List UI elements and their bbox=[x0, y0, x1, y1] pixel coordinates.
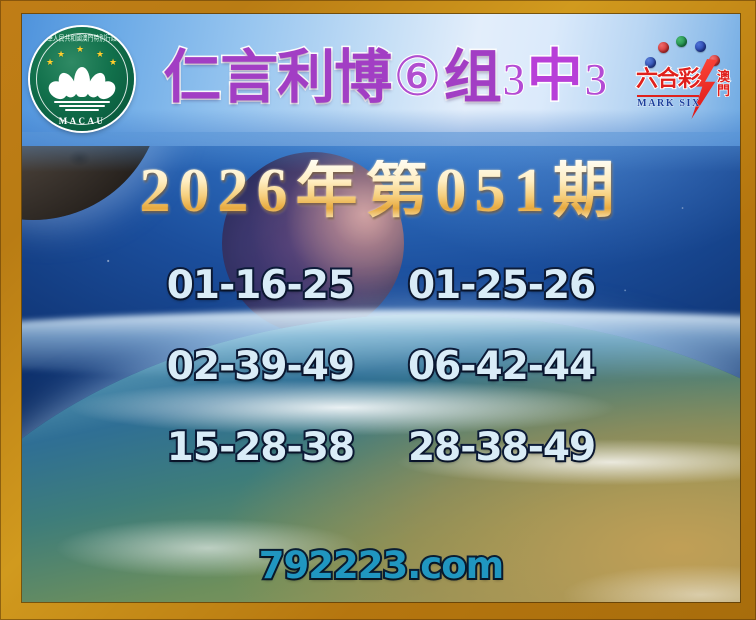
site-url[interactable]: 792223.com bbox=[22, 547, 740, 584]
headline-pick-count: 3 bbox=[503, 58, 525, 102]
lotus-icon bbox=[51, 67, 113, 101]
headline-circled-six: ⑥ bbox=[393, 50, 441, 104]
mark-six-underline bbox=[637, 95, 699, 97]
bridge-waves-icon bbox=[54, 101, 110, 114]
headline-group-label: 组 bbox=[444, 48, 501, 106]
mark-six-region: 澳門 bbox=[717, 71, 732, 98]
number-row: 01-16-25 01-25-26 bbox=[46, 266, 716, 305]
number-row: 15-28-38 28-38-49 bbox=[46, 428, 716, 467]
number-combo: 06-42-44 bbox=[408, 347, 595, 386]
emblem-stars: ★★★ ★★ bbox=[30, 47, 134, 63]
number-combo: 28-38-49 bbox=[408, 428, 595, 467]
headline-hit-count: 3 bbox=[585, 58, 607, 102]
headline-brand: 仁言利博 bbox=[163, 48, 391, 106]
header: 中華人民共和國澳門特別行政區 ★★★ ★★ MACAU 仁言利博 ⑥ bbox=[22, 14, 740, 144]
number-combo: 01-25-26 bbox=[408, 266, 595, 305]
number-combo: 15-28-38 bbox=[167, 428, 354, 467]
headline: 仁言利博 ⑥ 组 3 中 3 bbox=[138, 48, 634, 106]
number-row: 02-39-49 06-42-44 bbox=[46, 347, 716, 386]
number-combo: 02-39-49 bbox=[167, 347, 354, 386]
mark-six-chinese: 六合彩 bbox=[636, 69, 699, 91]
number-combo: 01-16-25 bbox=[167, 266, 354, 305]
macau-sar-emblem-icon: 中華人民共和國澳門特別行政區 ★★★ ★★ MACAU bbox=[30, 27, 134, 131]
number-grid: 01-16-25 01-25-26 02-39-49 06-42-44 15-2… bbox=[22, 266, 740, 467]
poster-canvas: 中華人民共和國澳門特別行政區 ★★★ ★★ MACAU 仁言利博 ⑥ bbox=[22, 14, 740, 602]
headline-hit-label: 中 bbox=[527, 49, 583, 105]
mark-six-logo-icon: 六合彩 MARK SIX 澳門 bbox=[634, 33, 730, 125]
issue-title: 2026年第051期 bbox=[22, 160, 740, 222]
mark-six-english: MARK SIX bbox=[637, 98, 701, 109]
emblem-chinese-text: 中華人民共和國澳門特別行政區 bbox=[30, 33, 134, 43]
emblem-latin-text: MACAU bbox=[30, 116, 134, 126]
poster-frame: 中華人民共和國澳門特別行政區 ★★★ ★★ MACAU 仁言利博 ⑥ bbox=[0, 0, 756, 620]
